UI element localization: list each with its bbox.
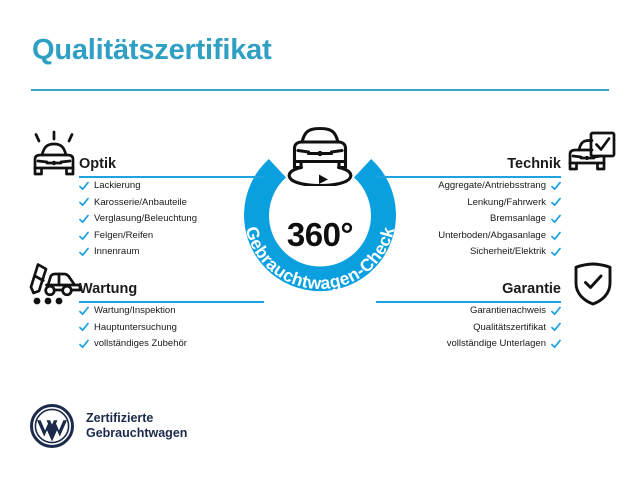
footer-logo-line2: Gebrauchtwagen xyxy=(86,426,187,441)
rotation-arrowhead xyxy=(319,175,328,185)
footer-logo-block: Zertifizierte Gebrauchtwagen xyxy=(30,404,187,448)
checklist-item-label: Lackierung xyxy=(94,178,140,195)
check-icon xyxy=(79,181,89,192)
checklist-item-label: Verglasung/Beleuchtung xyxy=(94,211,197,228)
checklist-item: Qualitätszertifikat xyxy=(376,320,561,337)
checklist-item: vollständiges Zubehör xyxy=(79,336,264,353)
check-icon xyxy=(79,214,89,225)
section-garantie-title: Garantie xyxy=(502,281,561,297)
checklist-item-label: Bremsanlage xyxy=(490,211,546,228)
checklist-item: Unterboden/Abgasanlage xyxy=(376,228,561,245)
car-rotation-icon xyxy=(277,120,363,186)
checklist-item-label: Wartung/Inspektion xyxy=(94,303,176,320)
checklist-item: vollständige Unterlagen xyxy=(376,336,561,353)
check-icon xyxy=(551,247,561,258)
check-icon xyxy=(79,322,89,333)
checklist-item: Sicherheit/Elektrik xyxy=(376,244,561,261)
checklist-item-label: vollständige Unterlagen xyxy=(447,336,546,353)
checklist-item-label: Qualitätszertifikat xyxy=(473,320,546,337)
check-icon xyxy=(79,339,89,350)
section-technik-header: Technik xyxy=(376,148,561,174)
section-technik: Technik Aggregate/AntriebsstrangLenkung/… xyxy=(376,148,561,174)
section-garantie: Garantie GarantienachweisQualitätszertif… xyxy=(376,273,561,299)
section-optik: Optik LackierungKarosserie/AnbauteileVer… xyxy=(79,148,264,174)
section-garantie-list: GarantienachweisQualitätszertifikatvolls… xyxy=(376,303,561,353)
checklist-item: Garantienachweis xyxy=(376,303,561,320)
section-technik-title: Technik xyxy=(507,156,561,172)
checklist-item-label: Garantienachweis xyxy=(470,303,546,320)
checklist-item-label: Aggregate/Antriebsstrang xyxy=(438,178,546,195)
check-icon xyxy=(551,181,561,192)
checklist-item-label: Felgen/Reifen xyxy=(94,228,153,245)
check-icon xyxy=(79,231,89,242)
shield-check-icon xyxy=(572,261,614,307)
check-icon xyxy=(551,231,561,242)
section-garantie-header: Garantie xyxy=(376,273,561,299)
check-icon xyxy=(551,306,561,317)
checklist-item: Bremsanlage xyxy=(376,211,561,228)
checklist-item: Aggregate/Antriebsstrang xyxy=(376,178,561,195)
page-title: Qualitätszertifikat xyxy=(32,34,272,67)
section-optik-header: Optik xyxy=(79,148,264,174)
car-checkbox-icon xyxy=(566,131,616,175)
car-shine-icon xyxy=(28,130,80,178)
checklist-item-label: Innenraum xyxy=(94,244,139,261)
check-icon xyxy=(551,339,561,350)
check-icon xyxy=(79,247,89,258)
check-icon xyxy=(551,214,561,225)
checklist-item-label: Karosserie/Anbauteile xyxy=(94,195,187,212)
check-icon xyxy=(79,197,89,208)
section-optik-list: LackierungKarosserie/AnbauteileVerglasun… xyxy=(79,178,264,261)
checklist-item-label: Unterboden/Abgasanlage xyxy=(438,228,546,245)
service-log-pen-car-icon xyxy=(26,261,82,307)
certificate-page: Qualitätszertifikat Gebrauchtwagen-Check xyxy=(0,0,640,480)
checklist-item: Innenraum xyxy=(79,244,264,261)
checklist-item: Verglasung/Beleuchtung xyxy=(79,211,264,228)
checklist-item: Felgen/Reifen xyxy=(79,228,264,245)
footer-logo-text: Zertifizierte Gebrauchtwagen xyxy=(86,411,187,441)
checklist-item: Lenkung/Fahrwerk xyxy=(376,195,561,212)
checklist-item-label: Sicherheit/Elektrik xyxy=(470,244,546,261)
checklist-item: Wartung/Inspektion xyxy=(79,303,264,320)
checklist-item-label: vollständiges Zubehör xyxy=(94,336,187,353)
section-wartung-title: Wartung xyxy=(79,281,137,297)
check-icon xyxy=(551,197,561,208)
checklist-item: Lackierung xyxy=(79,178,264,195)
checklist-item: Hauptuntersuchung xyxy=(79,320,264,337)
check-icon xyxy=(551,322,561,333)
checklist-item-label: Hauptuntersuchung xyxy=(94,320,177,337)
title-divider xyxy=(31,89,609,91)
section-optik-title: Optik xyxy=(79,156,116,172)
section-wartung-list: Wartung/InspektionHauptuntersuchungvolls… xyxy=(79,303,264,353)
footer-logo-line1: Zertifizierte xyxy=(86,411,187,426)
section-technik-list: Aggregate/AntriebsstrangLenkung/Fahrwerk… xyxy=(376,178,561,261)
checklist-item-label: Lenkung/Fahrwerk xyxy=(467,195,546,212)
vw-roundel-logo xyxy=(30,404,74,448)
check-icon xyxy=(79,306,89,317)
section-wartung: Wartung Wartung/InspektionHauptuntersuch… xyxy=(79,273,264,299)
section-wartung-header: Wartung xyxy=(79,273,264,299)
checklist-item: Karosserie/Anbauteile xyxy=(79,195,264,212)
